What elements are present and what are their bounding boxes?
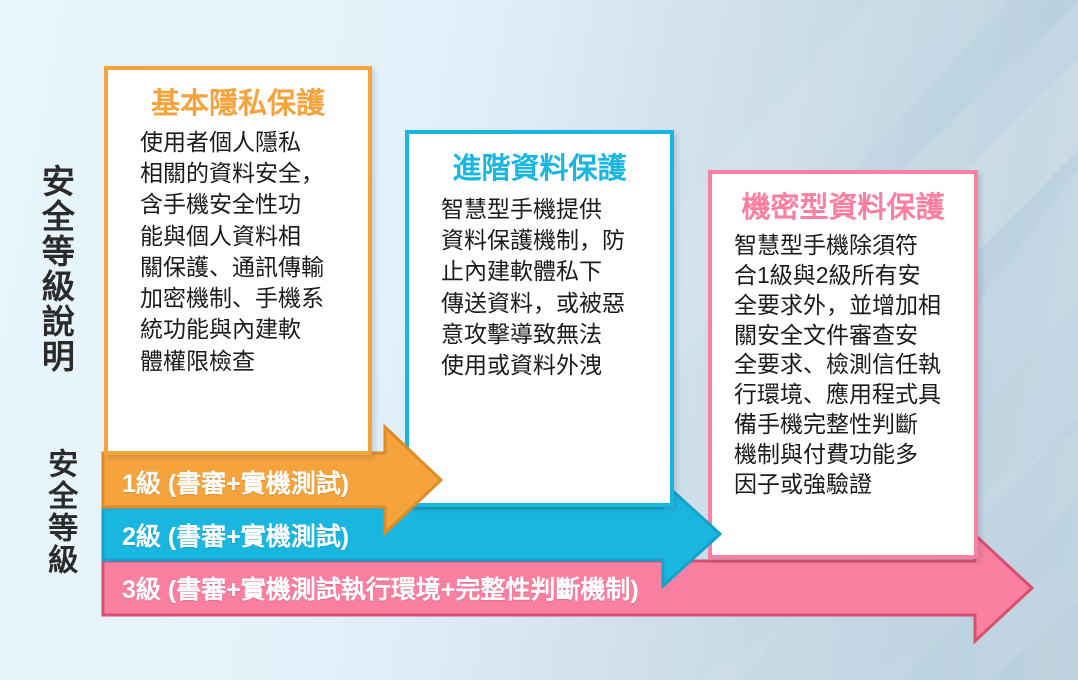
card-1-title: 基本隱私保護 — [108, 89, 368, 121]
slide-canvas: 安全等級說明 安全等級 3級 (書審+實機測試執行環境+完整性判斷機制) 機密型… — [0, 0, 1078, 680]
card-1-body: 使用者個人隱私 相關的資料安全， 含手機安全性功 能與個人資料相 關保護、通訊傳… — [140, 127, 368, 377]
level-3-arrow-label: 3級 (書審+實機測試執行環境+完整性判斷機制) — [122, 570, 639, 606]
card-basic-privacy-protection[interactable]: 基本隱私保護 使用者個人隱私 相關的資料安全， 含手機安全性功 能與個人資料相 … — [104, 66, 372, 455]
level-2-arrow-label: 2級 (書審+實機測試) — [122, 517, 349, 553]
level-1-arrow-label: 1級 (書審+實機測試) — [122, 464, 349, 500]
